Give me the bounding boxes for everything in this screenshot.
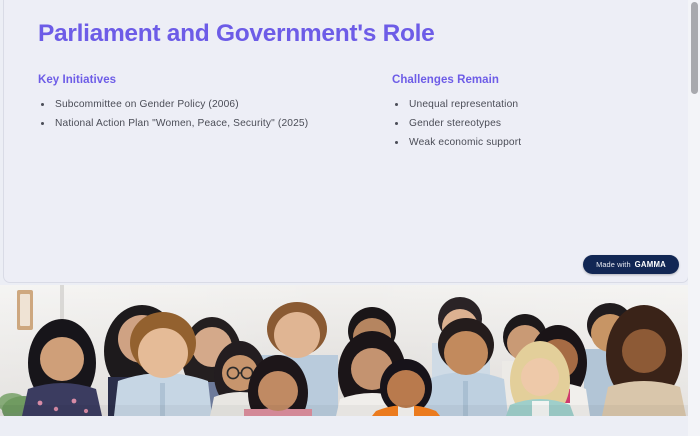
list-item-label: National Action Plan "Women, Peace, Secu… [55,118,308,129]
list-item: Subcommittee on Gender Policy (2006) [38,95,348,114]
list-item: Unequal representation [392,95,658,114]
list-item-label: Subcommittee on Gender Policy (2006) [55,99,239,110]
bullet-list-key-initiatives: Subcommittee on Gender Policy (2006) Nat… [38,95,348,133]
group-photo [0,285,689,416]
column-key-initiatives: Key Initiatives Subcommittee on Gender P… [38,74,348,152]
list-item: Weak economic support [392,133,658,152]
bullet-dot-icon [395,141,398,144]
list-item-label: Weak economic support [409,137,521,148]
bullet-dot-icon [395,122,398,125]
badge-brand-label: GAMMA [635,260,666,269]
column-heading-challenges-remain: Challenges Remain [392,74,658,86]
page-title: Parliament and Government's Role [38,20,435,48]
presentation-viewer: Parliament and Government's Role Key Ini… [0,0,700,436]
content-columns: Key Initiatives Subcommittee on Gender P… [38,74,658,152]
scrollbar-thumb[interactable] [691,2,698,94]
list-item: Gender stereotypes [392,114,658,133]
slide-card: Parliament and Government's Role Key Ini… [3,0,689,283]
vertical-scrollbar[interactable] [688,0,700,436]
bullet-dot-icon [41,122,44,125]
column-heading-key-initiatives: Key Initiatives [38,74,348,86]
badge-made-with-label: Made with [596,260,631,269]
bullet-dot-icon [395,103,398,106]
list-item-label: Unequal representation [409,99,518,110]
bullet-dot-icon [41,103,44,106]
page-bottom-spacer [0,416,700,436]
column-challenges-remain: Challenges Remain Unequal representation… [348,74,658,152]
list-item-label: Gender stereotypes [409,118,501,129]
made-with-gamma-badge[interactable]: Made with GAMMA [583,255,679,274]
list-item: National Action Plan "Women, Peace, Secu… [38,114,348,133]
bullet-list-challenges-remain: Unequal representation Gender stereotype… [392,95,658,152]
